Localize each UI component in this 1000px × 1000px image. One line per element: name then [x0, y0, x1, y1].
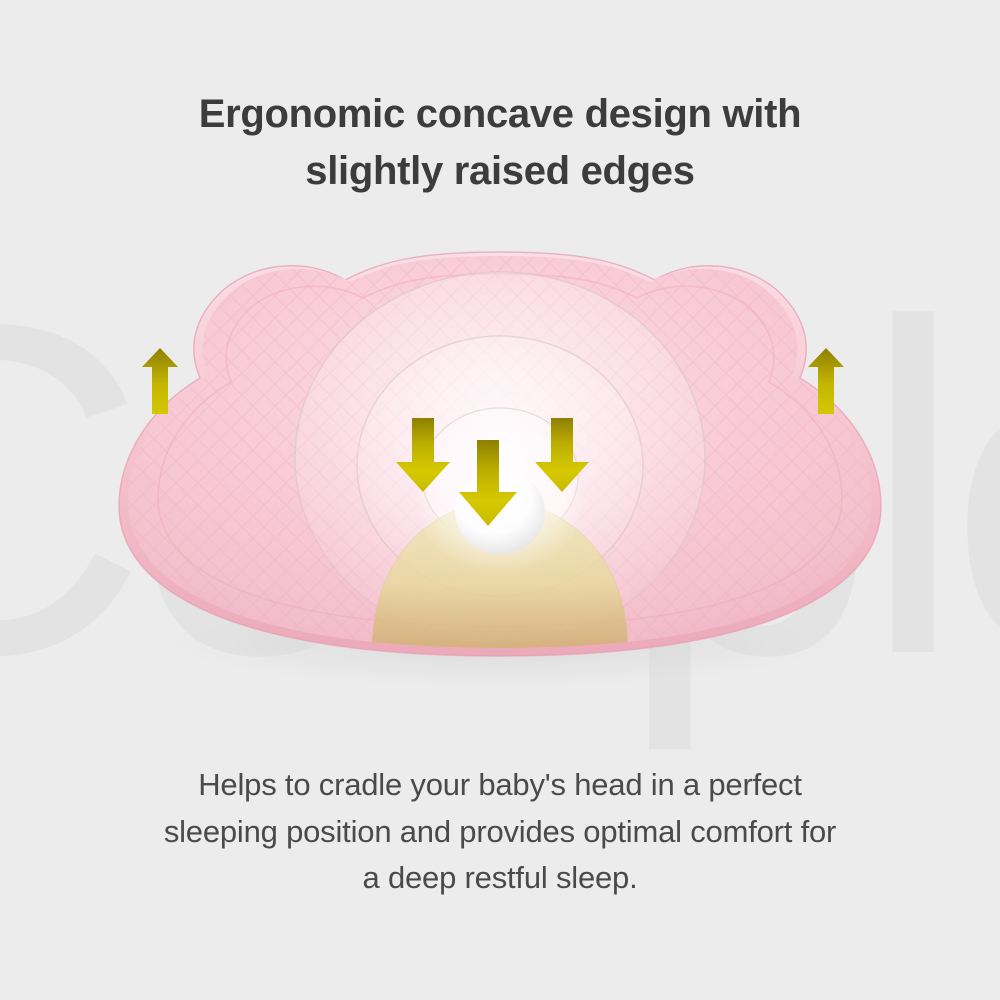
product-description-line-1: Helps to cradle your baby's head in a pe…	[0, 762, 1000, 809]
page-title-line-1: Ergonomic concave design with	[199, 92, 802, 136]
product-description-line-3: a deep restful sleep.	[0, 855, 1000, 902]
product-description: Helps to cradle your baby's head in a pe…	[0, 762, 1000, 902]
product-feature-card: Coople Ergonomic concave design with sli…	[0, 0, 1000, 1000]
product-image	[0, 230, 1000, 700]
page-title: Ergonomic concave design with slightly r…	[0, 86, 1000, 200]
product-description-line-2: sleeping position and provides optimal c…	[0, 809, 1000, 856]
page-title-line-2: slightly raised edges	[0, 143, 1000, 200]
head-contact-point	[418, 426, 582, 574]
